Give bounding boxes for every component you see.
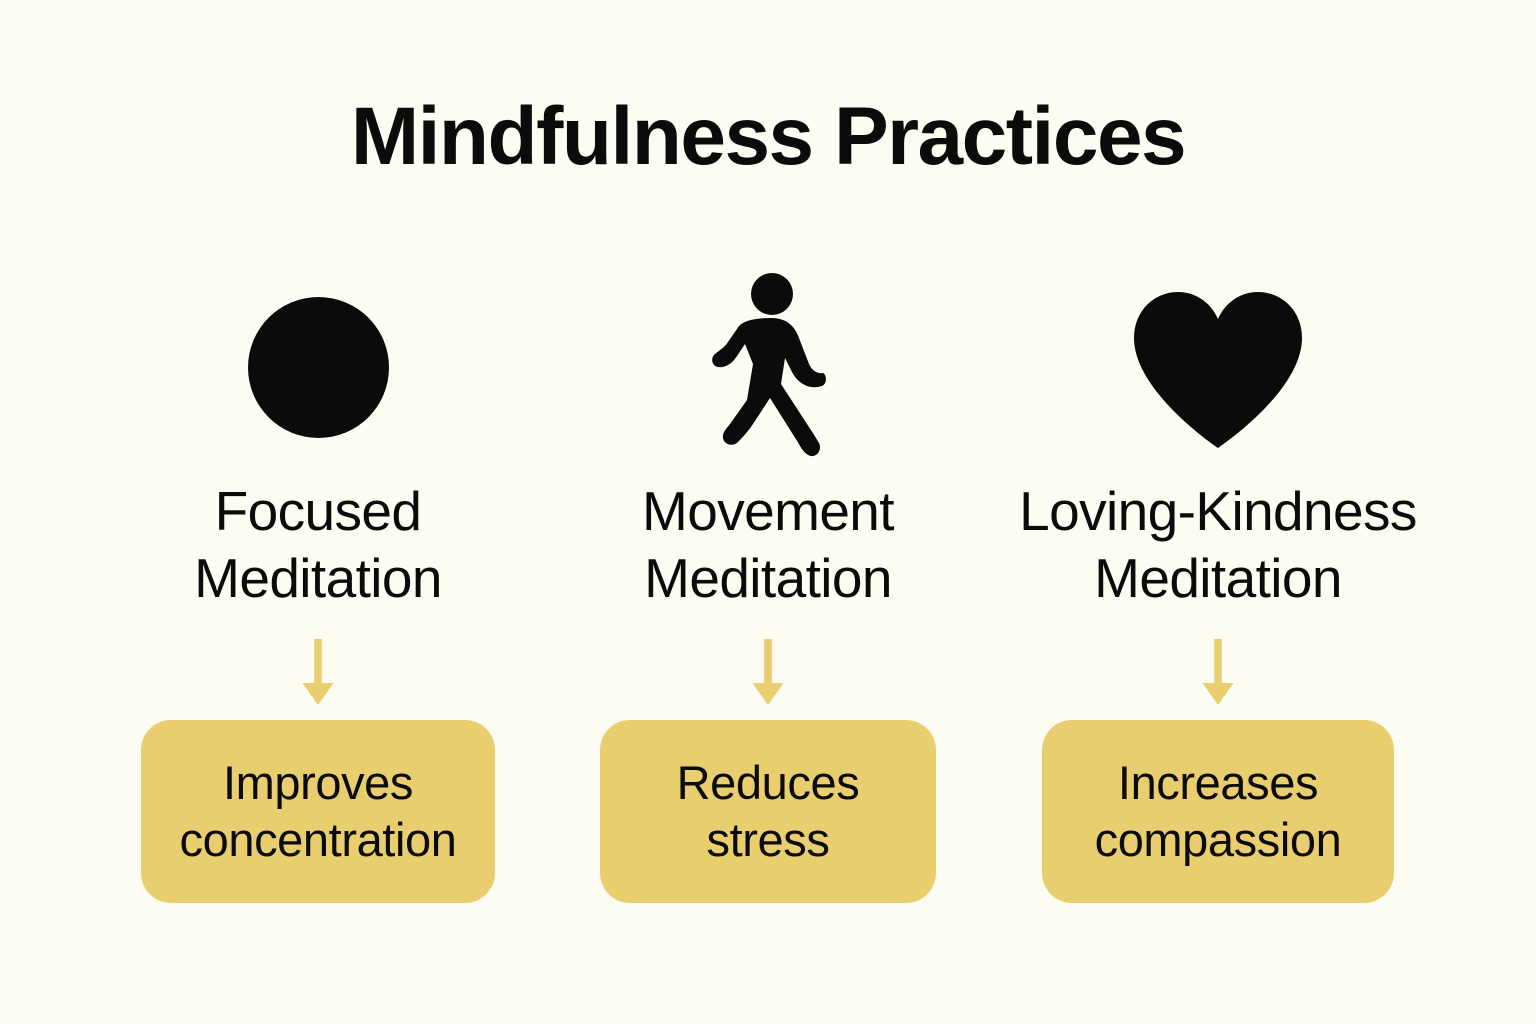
down-arrow-icon — [746, 638, 790, 708]
infographic-page: Mindfulness Practices Focused Meditation… — [0, 0, 1536, 1024]
benefit-text: Increases compassion — [1095, 755, 1342, 868]
practice-columns: Focused Meditation Improves concentratio… — [0, 278, 1536, 903]
practice-label: Loving-Kindness Meditation — [1019, 478, 1417, 612]
practice-column-loving-kindness-meditation: Loving-Kindness Meditation Increases com… — [993, 278, 1443, 903]
filled-circle-icon — [248, 297, 389, 438]
benefit-box: Reduces stress — [600, 720, 936, 903]
benefit-text: Improves concentration — [180, 755, 457, 868]
benefit-box: Improves concentration — [141, 720, 495, 903]
walking-person-icon — [709, 272, 827, 462]
icon-slot — [1126, 278, 1310, 456]
practice-label: Movement Meditation — [642, 478, 894, 612]
down-arrow-icon — [296, 638, 340, 708]
down-arrow-icon — [1196, 638, 1240, 708]
icon-slot — [709, 278, 827, 456]
benefit-box: Increases compassion — [1042, 720, 1394, 903]
icon-slot — [248, 278, 389, 456]
benefit-text: Reduces stress — [677, 755, 860, 868]
practice-column-focused-meditation: Focused Meditation Improves concentratio… — [93, 278, 543, 903]
page-title: Mindfulness Practices — [0, 96, 1536, 178]
practice-label: Focused Meditation — [194, 478, 442, 612]
heart-icon — [1126, 286, 1310, 448]
practice-column-movement-meditation: Movement Meditation Reduces stress — [543, 278, 993, 903]
